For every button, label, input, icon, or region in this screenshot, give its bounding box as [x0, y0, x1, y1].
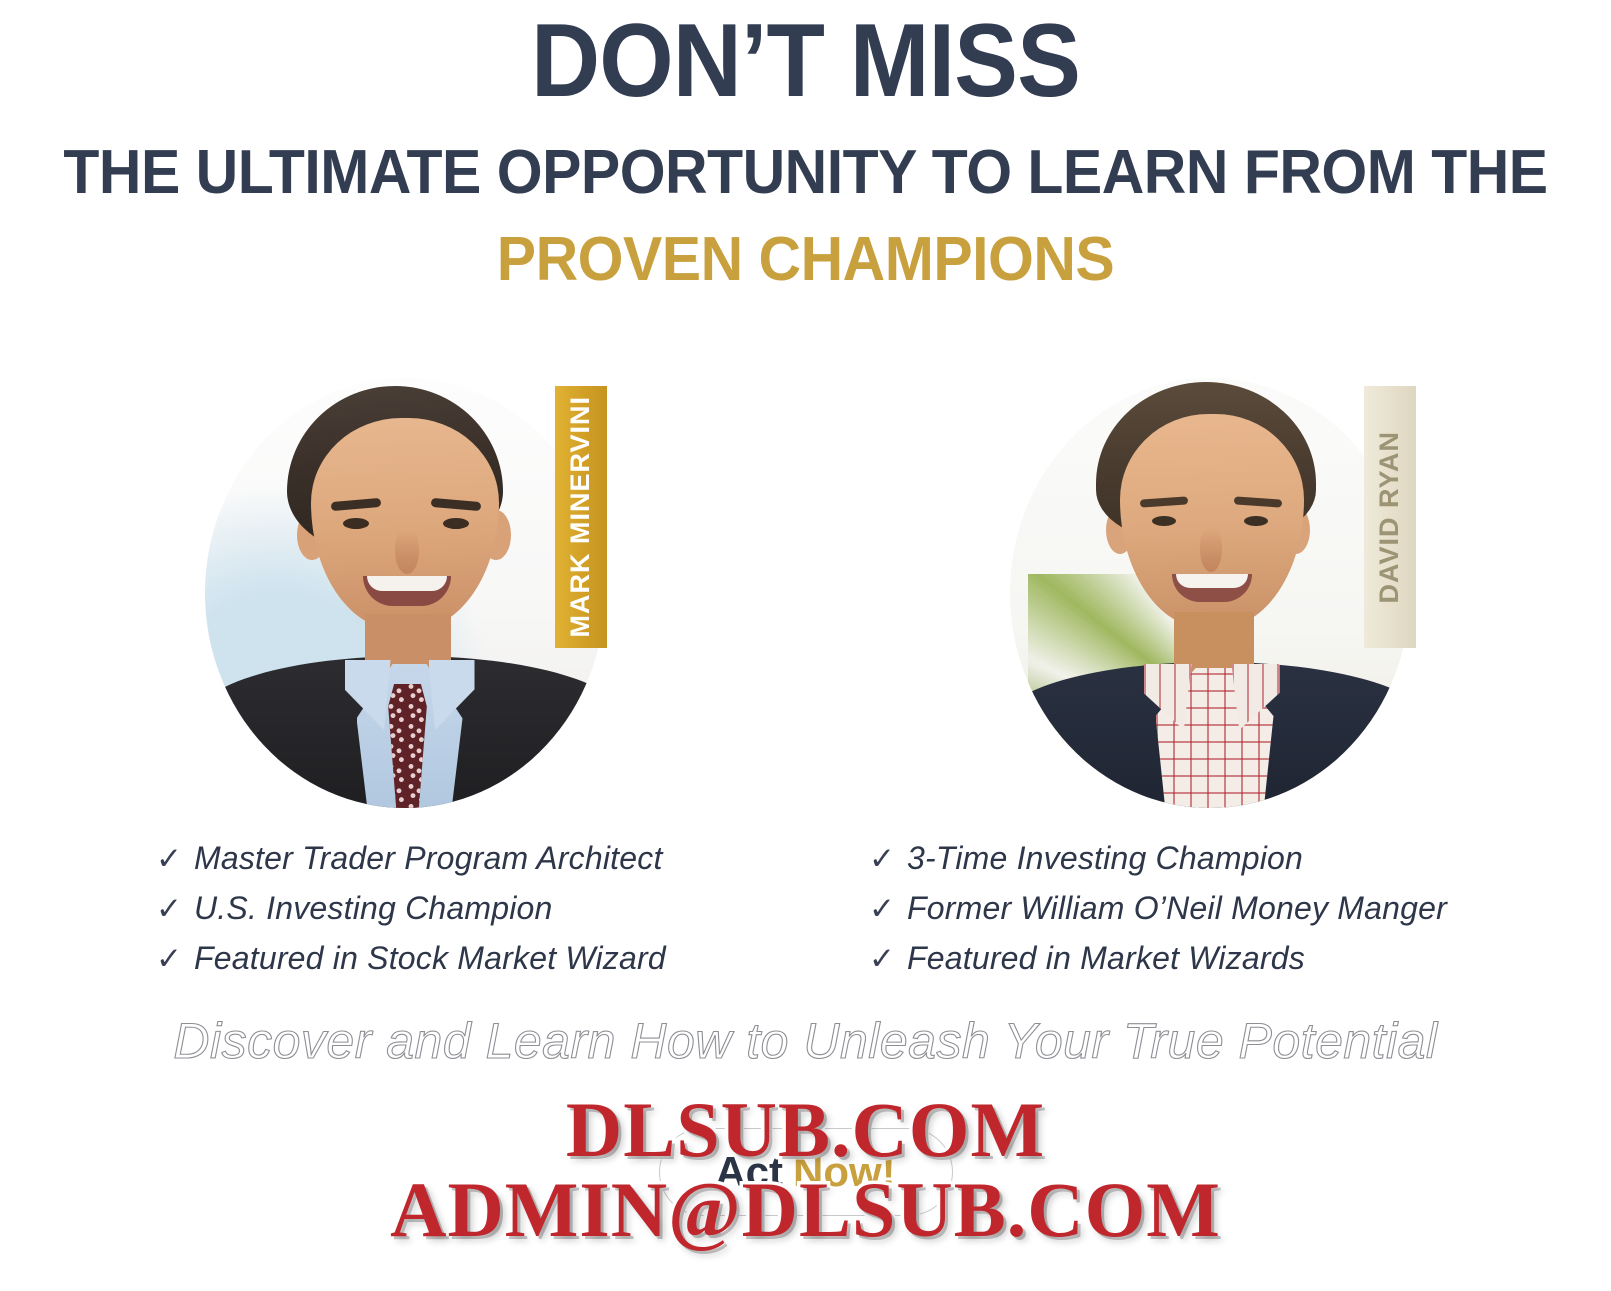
eye-left	[343, 518, 369, 529]
name-band-mark-minervini: MARK MINERVINI	[555, 386, 607, 648]
check-icon: ✓	[156, 843, 194, 874]
list-item-label: Featured in Market Wizards	[907, 940, 1305, 977]
check-icon: ✓	[156, 893, 194, 924]
headline-block: DON’T MISS THE ULTIMATE OPPORTUNITY TO L…	[0, 0, 1611, 296]
tagline: Discover and Learn How to Unleash Your T…	[0, 1012, 1611, 1070]
speaker-card-david-ryan: DAVID RYAN ✓ 3-Time Investing Champion ✓…	[805, 372, 1610, 822]
nose	[1200, 528, 1222, 572]
list-item-label: U.S. Investing Champion	[194, 890, 553, 927]
portrait-wrap-david-ryan: DAVID RYAN	[988, 372, 1428, 822]
check-icon: ✓	[156, 943, 194, 974]
name-band-david-ryan: DAVID RYAN	[1364, 386, 1416, 648]
list-item-label: 3-Time Investing Champion	[907, 840, 1303, 877]
teeth	[1176, 574, 1248, 588]
nose	[395, 530, 419, 574]
headline-line-1: DON’T MISS	[64, 8, 1546, 114]
name-band-label: DAVID RYAN	[1376, 431, 1403, 604]
list-item: ✓ 3-Time Investing Champion	[869, 840, 1611, 890]
list-item-label: Featured in Stock Market Wizard	[194, 940, 666, 977]
credentials-list-david-ryan: ✓ 3-Time Investing Champion ✓ Former Wil…	[805, 840, 1611, 990]
portrait-wrap-mark-minervini: MARK MINERVINI	[183, 372, 623, 822]
list-item-label: Former William O’Neil Money Manger	[907, 890, 1447, 927]
check-icon: ✓	[869, 843, 907, 874]
headline-line-3-accent: PROVEN CHAMPIONS	[40, 223, 1570, 296]
check-icon: ✓	[869, 943, 907, 974]
name-band-label: MARK MINERVINI	[567, 396, 594, 638]
eye-right	[1244, 516, 1268, 526]
headline-line-2: THE ULTIMATE OPPORTUNITY TO LEARN FROM T…	[40, 136, 1570, 209]
portrait-photo-mark-minervini	[205, 378, 605, 808]
watermark-site: DLSUB.COM	[566, 1085, 1045, 1175]
list-item-label: Master Trader Program Architect	[194, 840, 663, 877]
list-item: ✓ Former William O’Neil Money Manger	[869, 890, 1611, 940]
check-icon: ✓	[869, 893, 907, 924]
list-item: ✓ Featured in Market Wizards	[869, 940, 1611, 990]
watermark-email: ADMIN@DLSUB.COM	[390, 1165, 1221, 1255]
eye-left	[1152, 516, 1176, 526]
eye-right	[443, 518, 469, 529]
speakers-row: MARK MINERVINI ✓ Master Trader Program A…	[0, 372, 1611, 822]
portrait-photo-david-ryan	[1010, 378, 1410, 808]
speaker-card-mark-minervini: MARK MINERVINI ✓ Master Trader Program A…	[0, 372, 805, 822]
teeth	[367, 576, 447, 591]
